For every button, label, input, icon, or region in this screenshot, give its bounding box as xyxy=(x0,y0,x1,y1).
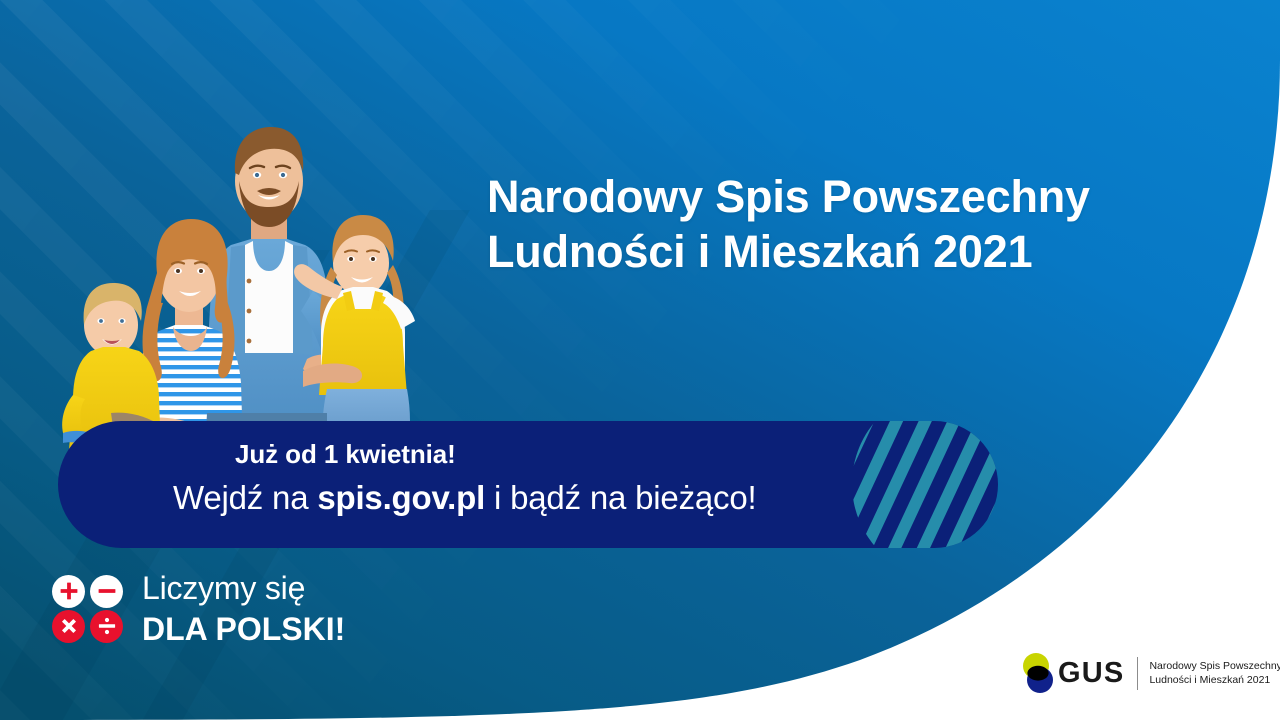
banner-text-block: Już od 1 kwietnia! Wejdź na spis.gov.pl … xyxy=(173,438,756,519)
plus-icon xyxy=(52,575,85,608)
slogan-text: Liczymy się DLA POLSKI! xyxy=(142,572,345,645)
poster-root: Narodowy Spis Powszechny Ludności i Mies… xyxy=(0,0,1280,720)
gus-subtitle-line-2: Ludności i Mieszkań 2021 xyxy=(1149,673,1280,687)
gus-subtitle-line-1: Narodowy Spis Powszechny xyxy=(1149,659,1280,673)
slogan-line-1: Liczymy się xyxy=(142,572,345,604)
banner-subline-suffix: i bądź na bieżąco! xyxy=(485,479,756,516)
banner-headline: Już od 1 kwietnia! xyxy=(235,438,756,471)
call-to-action-banner[interactable]: Już od 1 kwietnia! Wejdź na spis.gov.pl … xyxy=(58,421,998,548)
banner-subline: Wejdź na spis.gov.pl i bądź na bieżąco! xyxy=(173,477,756,520)
multiply-icon xyxy=(52,610,85,643)
minus-icon xyxy=(90,575,123,608)
title-line-2: Ludności i Mieszkań 2021 xyxy=(487,225,1187,280)
slogan-block: Liczymy się DLA POLSKI! xyxy=(52,572,345,645)
gus-subtitle: Narodowy Spis Powszechny Ludności i Mies… xyxy=(1149,659,1280,688)
gus-wordmark: GUS xyxy=(1058,657,1124,690)
poster-title: Narodowy Spis Powszechny Ludności i Mies… xyxy=(487,170,1187,280)
gus-two-circles-icon xyxy=(1019,652,1057,694)
family-photo xyxy=(55,95,430,450)
gus-divider xyxy=(1137,657,1138,690)
title-line-1: Narodowy Spis Powszechny xyxy=(487,170,1187,225)
divide-icon xyxy=(90,610,123,643)
math-symbols-logo xyxy=(52,575,126,643)
slogan-line-2: DLA POLSKI! xyxy=(142,613,345,645)
gus-logo-lockup: GUS Narodowy Spis Powszechny Ludności i … xyxy=(1019,652,1280,694)
banner-url[interactable]: spis.gov.pl xyxy=(317,479,485,516)
banner-subline-prefix: Wejdź na xyxy=(173,479,317,516)
